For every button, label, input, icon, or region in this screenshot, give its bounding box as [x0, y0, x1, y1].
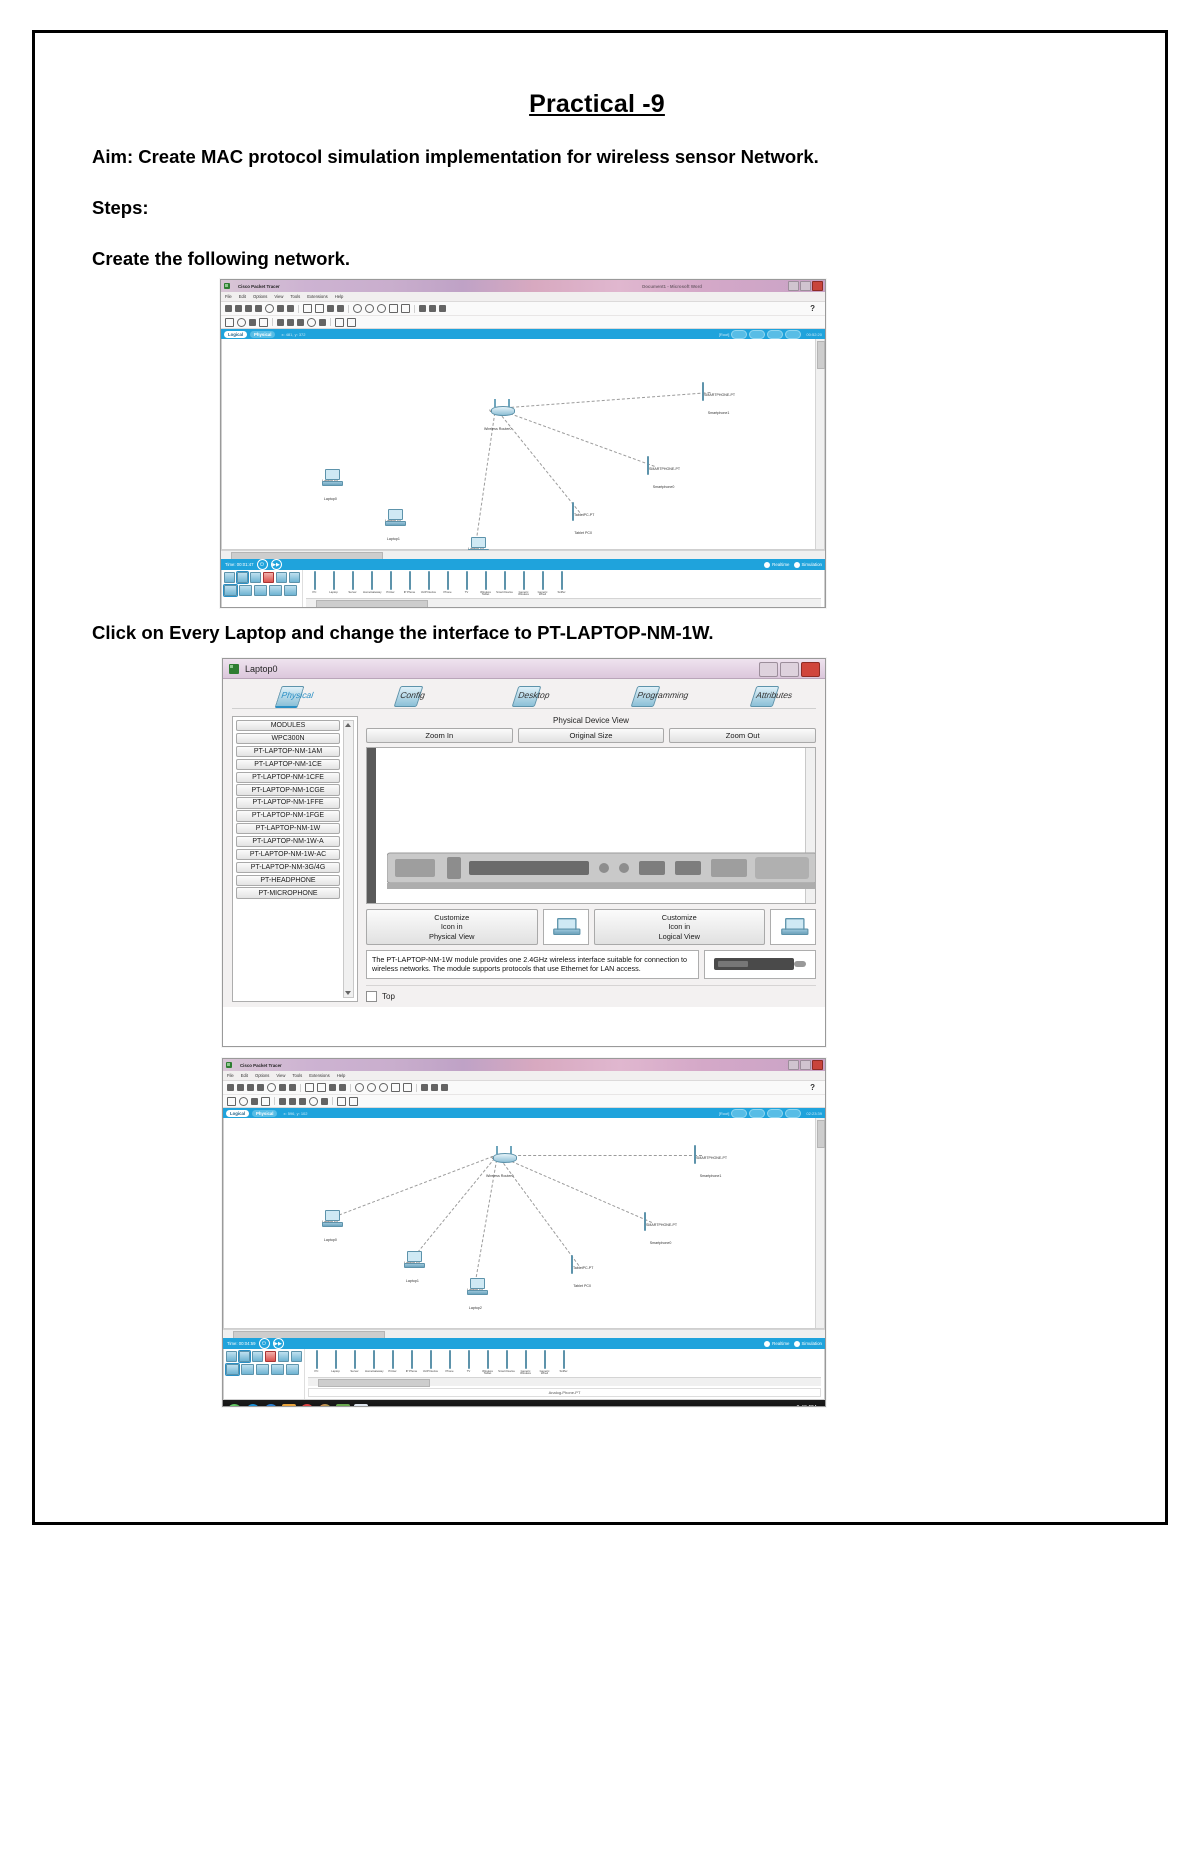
pt2-workspace[interactable]: WRT300NWireless Router0SMARTPHONE-PTSmar… — [223, 1118, 825, 1329]
zoom-out-button[interactable]: Zoom Out — [669, 728, 816, 743]
device-phone[interactable]: Phone — [441, 1351, 458, 1375]
toolbar-separator — [272, 318, 273, 326]
device-printer[interactable]: Printer — [382, 572, 399, 596]
device-label: VoIP Device — [420, 591, 437, 594]
zoom-out-icon[interactable] — [379, 1083, 388, 1092]
pt2-window-title: Cisco Packet Tracer — [240, 1063, 282, 1068]
original-size-button[interactable]: Original Size — [518, 728, 665, 743]
end-devices-sub-icon[interactable] — [226, 1364, 239, 1375]
home-icon[interactable] — [239, 585, 252, 596]
pt1-window-controls[interactable] — [788, 281, 823, 291]
draw-line-icon[interactable] — [287, 319, 294, 326]
tab-desktop[interactable]: Desktop — [512, 686, 542, 707]
industrial-icon[interactable] — [269, 585, 282, 596]
start-button-icon[interactable] — [227, 1404, 242, 1407]
close-icon[interactable] — [812, 281, 823, 291]
scroll-thumb[interactable] — [817, 1120, 825, 1148]
smart-city-icon[interactable] — [254, 585, 267, 596]
pt1-menubar[interactable]: File Edit Options View Tools Extensions … — [221, 292, 825, 302]
palette-icon[interactable] — [287, 305, 294, 312]
open-file-icon[interactable] — [235, 305, 242, 312]
print-icon[interactable] — [255, 305, 262, 312]
multiuser-connection-icon[interactable] — [289, 572, 300, 583]
device-label: PC — [308, 1370, 325, 1373]
power-grid-icon[interactable] — [284, 585, 297, 596]
link-router0-laptop0 — [330, 1154, 498, 1219]
pt1-view-bar[interactable]: Logical Physical x: 481, y: 372 [Root] 0… — [221, 329, 825, 339]
network-info-icon[interactable] — [279, 1084, 286, 1091]
node-tabletpc0[interactable]: TabletPC-PTTablet PC0 — [572, 503, 594, 539]
pt2-clock: 02:23:39 — [806, 1111, 822, 1116]
windows-taskbar[interactable]: 2:49 PM 2/3/2021 — [223, 1400, 825, 1407]
viewport-icon[interactable] — [431, 1084, 438, 1091]
menu-help[interactable]: Help — [337, 1073, 346, 1078]
physical-view-tab[interactable]: Physical — [252, 1110, 277, 1117]
custom-devices-icon[interactable] — [403, 1083, 412, 1092]
place-note-icon[interactable] — [277, 319, 284, 326]
viewport-button[interactable] — [785, 1109, 801, 1118]
menu-edit[interactable]: Edit — [239, 294, 246, 299]
device-label: Wireless Tablet — [477, 591, 494, 597]
pt2-statusbar: Time: 00:04:59 ⏻ ▶▶ Realtime Simulation — [223, 1338, 825, 1349]
device-pc[interactable]: PC — [306, 572, 323, 596]
device-label: VoIP Device — [422, 1370, 439, 1373]
tab-physical[interactable]: Physical — [274, 686, 304, 708]
select-tool-icon[interactable] — [225, 318, 234, 327]
zoom-in-button[interactable]: Zoom In — [366, 728, 513, 743]
realtime-mode-button[interactable]: Realtime — [764, 1341, 789, 1347]
device-ip-phone[interactable]: IP Phone — [401, 572, 418, 596]
module-pt-laptop-nm-1w-a[interactable]: PT-LAPTOP-NM-1W-A — [236, 836, 340, 847]
device-type-selection[interactable] — [224, 1349, 305, 1399]
physical-view-thumbnail — [543, 909, 589, 945]
media-player-icon[interactable] — [300, 1404, 314, 1407]
device-ip-phone[interactable]: IP Phone — [403, 1351, 420, 1375]
modules-scrollbar[interactable] — [343, 720, 354, 998]
menu-options[interactable]: Options — [255, 1073, 269, 1078]
draw-freeform-icon[interactable] — [321, 1098, 328, 1105]
device-tv[interactable]: TV — [458, 572, 475, 596]
menu-view[interactable]: View — [276, 1073, 285, 1078]
paste-icon[interactable] — [315, 304, 324, 313]
node-laptop0[interactable]: Laptop-PTLaptop0 — [322, 1210, 339, 1246]
pt1-secondary-toolbar[interactable] — [221, 316, 825, 329]
pt1-view-bar-right[interactable]: [Root] 00:52:20 — [716, 330, 822, 339]
redo-icon[interactable] — [337, 305, 344, 312]
components-icon[interactable] — [252, 1351, 263, 1362]
pt2-device-tray[interactable]: PCLaptopServerHomeGatewayPrinterIP Phone… — [223, 1349, 825, 1400]
delete-tool-icon[interactable] — [249, 319, 256, 326]
delete-tool-icon[interactable] — [251, 1098, 258, 1105]
pt1-horizontal-scrollbar[interactable] — [221, 550, 825, 559]
scroll-thumb[interactable] — [316, 600, 428, 608]
inspect-tool-icon[interactable] — [237, 318, 246, 327]
simulation-mode-button[interactable]: Simulation — [794, 562, 823, 568]
end-devices-icon[interactable] — [237, 572, 248, 583]
dialog-window-controls[interactable] — [759, 662, 820, 677]
device-list[interactable]: PCLaptopServerHomeGatewayPrinterIP Phone… — [305, 1349, 824, 1399]
draw-ellipse-icon[interactable] — [309, 1097, 318, 1106]
draw-freeform-icon[interactable] — [319, 319, 326, 326]
device-generic-wired[interactable]: Generic Wired — [536, 1351, 553, 1375]
menu-tools[interactable]: Tools — [290, 294, 300, 299]
zoom-in-icon[interactable] — [355, 1083, 364, 1092]
industrial-icon[interactable] — [271, 1364, 284, 1375]
step-2-text: Click on Every Laptop and change the int… — [92, 621, 1102, 646]
pt1-workspace[interactable]: WRT300NWireless Router0SMARTPHONE-PTSmar… — [221, 339, 825, 550]
scroll-thumb[interactable] — [817, 341, 825, 369]
node-smartphone0[interactable]: SMARTPHONE-PTSmartphone0 — [644, 1213, 677, 1249]
pt1-main-toolbar[interactable]: ? — [221, 302, 825, 316]
zoom-reset-icon[interactable] — [365, 304, 374, 313]
device-category-row-2[interactable] — [226, 1364, 302, 1375]
pt2-window-controls[interactable] — [788, 1060, 823, 1070]
module-pt-laptop-nm-1w-ac[interactable]: PT-LAPTOP-NM-1W-AC — [236, 849, 340, 860]
power-cycle-devices-icon[interactable]: ⏻ — [257, 559, 268, 570]
device-icon — [354, 1350, 356, 1369]
end-devices-icon[interactable] — [239, 1351, 250, 1362]
pt2-menubar[interactable]: File Edit Options View Tools Extensions … — [223, 1071, 825, 1081]
device-type-selection[interactable] — [222, 570, 303, 608]
device-list-scrollbar[interactable] — [308, 1377, 821, 1386]
draw-rectangle-icon[interactable] — [389, 304, 398, 313]
device-label: Generic Wired — [534, 591, 551, 597]
components-icon[interactable] — [250, 572, 261, 583]
device-wireless-tablet[interactable]: Wireless Tablet — [479, 1351, 496, 1375]
maximize-icon[interactable] — [780, 662, 799, 677]
pt1-vertical-scrollbar[interactable] — [815, 339, 824, 549]
device-icon — [449, 1350, 451, 1369]
module-wpc300n[interactable]: WPC300N — [236, 733, 340, 744]
device-category-row-2[interactable] — [224, 585, 300, 596]
pt2-view-bar-right[interactable]: [Root] 02:23:39 — [716, 1109, 822, 1118]
customize-line-1: Customize — [662, 913, 697, 922]
new-file-icon[interactable] — [225, 305, 232, 312]
pt2-main-toolbar[interactable]: ? — [223, 1081, 825, 1095]
taskbar-clock[interactable]: 2:49 PM 2/3/2021 — [796, 1405, 821, 1407]
device-viewport[interactable] — [366, 747, 816, 904]
complex-pdu-icon[interactable] — [349, 1097, 358, 1106]
menu-tools[interactable]: Tools — [292, 1073, 302, 1078]
device-icon — [487, 1350, 489, 1369]
dialog-tabs[interactable]: PhysicalConfigDesktopProgrammingAttribut… — [232, 686, 816, 709]
device-server[interactable]: Server — [344, 572, 361, 596]
top-checkbox[interactable] — [366, 991, 377, 1002]
device-phone[interactable]: Phone — [439, 572, 456, 596]
move-object-button[interactable] — [749, 330, 765, 339]
node-laptop1[interactable]: Laptop-PTLaptop1 — [385, 509, 402, 545]
module-pt-laptop-nm-1w[interactable]: PT-LAPTOP-NM-1W — [236, 823, 340, 834]
node-router0[interactable]: WRT300NWireless Router0 — [484, 399, 512, 435]
minimize-icon[interactable] — [788, 1060, 799, 1070]
module-pt-laptop-nm-1fge[interactable]: PT-LAPTOP-NM-1FGE — [236, 810, 340, 821]
smart-city-icon[interactable] — [256, 1364, 269, 1375]
scroll-down-arrow-icon[interactable] — [345, 991, 351, 995]
tab-attributes[interactable]: Attributes — [750, 686, 780, 707]
menu-extensions[interactable]: Extensions — [307, 294, 327, 299]
device-icon — [504, 571, 506, 590]
link-router0-smartphone1 — [498, 1155, 702, 1156]
draw-rectangle-icon[interactable] — [391, 1083, 400, 1092]
internet-explorer-icon[interactable] — [246, 1404, 260, 1407]
modules-header[interactable]: MODULES — [236, 720, 340, 731]
node-label: SMARTPHONE-PTSmartphone1 — [696, 1156, 727, 1178]
save-icon[interactable] — [247, 1084, 254, 1091]
pt2-horizontal-scrollbar[interactable] — [223, 1329, 825, 1338]
pt1-device-tray[interactable]: PCLaptopServerHomeGatewayPrinterIP Phone… — [221, 570, 825, 608]
pt2-view-bar[interactable]: Logical Physical x: 596, y: 102 [Root] 0… — [223, 1108, 825, 1118]
customize-line-2: Icon in — [668, 922, 690, 931]
menu-extensions[interactable]: Extensions — [309, 1073, 329, 1078]
pt2-vertical-scrollbar[interactable] — [815, 1118, 824, 1328]
device-label: Generic Wireless — [517, 1370, 534, 1376]
viewport-icon[interactable] — [429, 305, 436, 312]
device-icon — [523, 571, 525, 590]
device-list[interactable]: PCLaptopServerHomeGatewayPrinterIP Phone… — [303, 570, 824, 608]
device-label: Generic Wireless — [515, 591, 532, 597]
simulation-mode-button[interactable]: Simulation — [794, 1341, 823, 1347]
module-pt-microphone[interactable]: PT-MICROPHONE — [236, 887, 340, 898]
pt1-mode-toggle[interactable]: Realtime Simulation — [764, 562, 822, 568]
customize-icon-logical-view-button[interactable]: Customize Icon in Logical View — [594, 909, 766, 945]
device-voip-device[interactable]: VoIP Device — [420, 572, 437, 596]
module-pt-laptop-nm-3g-4g[interactable]: PT-LAPTOP-NM-3G/4G — [236, 862, 340, 873]
zoom-in-icon[interactable] — [353, 304, 362, 313]
customize-icon-physical-view-button[interactable]: Customize Icon in Physical View — [366, 909, 538, 945]
menu-options[interactable]: Options — [253, 294, 267, 299]
device-icon — [430, 1350, 432, 1369]
device-label: Smart Device — [498, 1370, 515, 1373]
connections-icon[interactable] — [265, 1351, 276, 1362]
device-voip-device[interactable]: VoIP Device — [422, 1351, 439, 1375]
realtime-mode-button[interactable]: Realtime — [764, 562, 789, 568]
realtime-icon — [764, 1341, 770, 1347]
device-sniffer[interactable]: Sniffer — [555, 1351, 572, 1375]
open-file-icon[interactable] — [237, 1084, 244, 1091]
device-icon — [335, 1350, 337, 1369]
pt2-mode-toggle[interactable]: Realtime Simulation — [764, 1341, 822, 1347]
fast-forward-icon[interactable]: ▶▶ — [271, 559, 282, 570]
inspect-tool-icon[interactable] — [239, 1097, 248, 1106]
minimize-icon[interactable] — [759, 662, 778, 677]
module-pt-laptop-nm-1cge[interactable]: PT-LAPTOP-NM-1CGE — [236, 784, 340, 795]
modules-panel[interactable]: MODULESWPC300NPT-LAPTOP-NM-1AMPT-LAPTOP-… — [232, 716, 358, 1002]
minimize-icon[interactable] — [788, 281, 799, 291]
menu-edit[interactable]: Edit — [241, 1073, 248, 1078]
customize-line-1: Customize — [434, 913, 469, 922]
logical-view-tab[interactable]: Logical — [226, 1110, 249, 1117]
maximize-icon[interactable] — [800, 1060, 811, 1070]
device-icon — [352, 571, 354, 590]
chrome-icon[interactable] — [318, 1404, 332, 1407]
module-pt-laptop-nm-1ffe[interactable]: PT-LAPTOP-NM-1FFE — [236, 797, 340, 808]
complex-pdu-icon[interactable] — [347, 318, 356, 327]
word-document-icon[interactable] — [354, 1404, 368, 1407]
description-row: The PT-LAPTOP-NM-1W module provides one … — [366, 950, 816, 979]
draw-ellipse-icon[interactable] — [307, 318, 316, 327]
device-laptop[interactable]: Laptop — [325, 572, 342, 596]
device-printer[interactable]: Printer — [384, 1351, 401, 1375]
draw-line-icon[interactable] — [289, 1098, 296, 1105]
node-laptop2[interactable]: Laptop-PTLaptop2 — [467, 1278, 484, 1314]
end-devices-sub-icon[interactable] — [224, 585, 237, 596]
device-homegateway[interactable]: HomeGateway — [363, 572, 380, 596]
fast-forward-icon[interactable]: ▶▶ — [273, 1338, 284, 1349]
menu-file[interactable]: File — [227, 1073, 234, 1078]
set-tiled-background-button[interactable] — [767, 1109, 783, 1118]
home-icon[interactable] — [241, 1364, 254, 1375]
new-cluster-button[interactable] — [731, 330, 747, 339]
resize-shape-icon[interactable] — [259, 318, 268, 327]
pt2-titlebar: Cisco Packet Tracer — [223, 1059, 825, 1071]
folder-icon[interactable] — [282, 1404, 296, 1407]
power-cycle-devices-icon[interactable]: ⏻ — [259, 1338, 270, 1349]
device-category-row-1[interactable] — [226, 1351, 302, 1362]
menu-file[interactable]: File — [225, 294, 232, 299]
device-generic-wireless[interactable]: Generic Wireless — [515, 572, 532, 596]
device-pc[interactable]: PC — [308, 1351, 325, 1375]
logical-view-tab[interactable]: Logical — [224, 331, 247, 338]
network-devices-icon[interactable] — [224, 572, 235, 583]
activity-wizard-icon[interactable] — [267, 1083, 276, 1092]
modules-list[interactable]: MODULESWPC300NPT-LAPTOP-NM-1AMPT-LAPTOP-… — [236, 720, 340, 998]
physical-view-tab[interactable]: Physical — [250, 331, 275, 338]
help-question-icon[interactable]: ? — [810, 304, 821, 313]
select-tool-icon[interactable] — [227, 1097, 236, 1106]
new-file-icon[interactable] — [227, 1084, 234, 1091]
pdu-list-icon[interactable] — [421, 1084, 428, 1091]
resize-shape-icon[interactable] — [261, 1097, 270, 1106]
tab-programming[interactable]: Programming — [631, 686, 661, 707]
custom-devices-icon[interactable] — [401, 304, 410, 313]
node-smartphone1[interactable]: SMARTPHONE-PTSmartphone1 — [694, 1146, 727, 1182]
physical-device-view-label: Physical Device View — [366, 716, 816, 725]
power-grid-icon[interactable] — [286, 1364, 299, 1375]
module-pt-laptop-nm-1ce[interactable]: PT-LAPTOP-NM-1CE — [236, 759, 340, 770]
copy-icon[interactable] — [303, 304, 312, 313]
device-label: Printer — [382, 591, 399, 594]
simulation-time: Time: 00:04:59 — [227, 1341, 256, 1346]
laptop-thumbnail-icon — [553, 918, 578, 935]
zoom-button-row[interactable]: Zoom In Original Size Zoom Out — [366, 728, 816, 743]
device-tv[interactable]: TV — [460, 1351, 477, 1375]
network-info-icon[interactable] — [277, 305, 284, 312]
top-checkbox-row[interactable]: Top — [366, 985, 816, 1002]
miscellaneous-icon[interactable] — [278, 1351, 289, 1362]
device-list-scrollbar[interactable] — [306, 598, 821, 607]
device-row[interactable]: PCLaptopServerHomeGatewayPrinterIP Phone… — [306, 572, 821, 596]
device-sniffer[interactable]: Sniffer — [553, 572, 570, 596]
redo-icon[interactable] — [339, 1084, 346, 1091]
packet-tracer-taskbar-icon[interactable] — [336, 1404, 350, 1407]
device-homegateway[interactable]: HomeGateway — [365, 1351, 382, 1375]
pt2-secondary-toolbar[interactable] — [223, 1095, 825, 1108]
draw-square-icon[interactable] — [299, 1098, 306, 1105]
simple-pdu-icon[interactable] — [337, 1097, 346, 1106]
undo-icon[interactable] — [327, 305, 334, 312]
node-router0[interactable]: WRT300NWireless Router0 — [486, 1146, 514, 1182]
device-icon — [390, 571, 392, 590]
scroll-thumb[interactable] — [318, 1379, 430, 1387]
paste-icon[interactable] — [317, 1083, 326, 1092]
tab-config[interactable]: Config — [393, 686, 423, 707]
scroll-up-arrow-icon[interactable] — [345, 723, 351, 727]
device-server[interactable]: Server — [346, 1351, 363, 1375]
set-tiled-background-button[interactable] — [767, 330, 783, 339]
laptop-thumbnail-icon — [781, 918, 806, 935]
menu-view[interactable]: View — [274, 294, 283, 299]
zoom-out-icon[interactable] — [377, 304, 386, 313]
pdu-list-icon[interactable] — [419, 305, 426, 312]
viewport-button[interactable] — [785, 330, 801, 339]
maximize-icon[interactable] — [800, 281, 811, 291]
device-generic-wireless[interactable]: Generic Wireless — [517, 1351, 534, 1375]
node-laptop0[interactable]: Laptop-PTLaptop0 — [322, 469, 339, 505]
close-icon[interactable] — [812, 1060, 823, 1070]
undo-icon[interactable] — [329, 1084, 336, 1091]
device-icon — [428, 571, 430, 590]
device-generic-wired[interactable]: Generic Wired — [534, 572, 551, 596]
module-pt-laptop-nm-1am[interactable]: PT-LAPTOP-NM-1AM — [236, 746, 340, 757]
dialog-inner: MODULESWPC300NPT-LAPTOP-NM-1AMPT-LAPTOP-… — [232, 716, 816, 1002]
module-description: The PT-LAPTOP-NM-1W module provides one … — [366, 950, 699, 979]
customize-row[interactable]: Customize Icon in Physical View Customiz… — [366, 909, 816, 945]
toolbar-separator — [298, 305, 299, 313]
move-object-button[interactable] — [749, 1109, 765, 1118]
save-icon[interactable] — [245, 305, 252, 312]
activity-wizard-icon[interactable] — [265, 304, 274, 313]
palette-icon[interactable] — [289, 1084, 296, 1091]
device-category-row-1[interactable] — [224, 572, 300, 583]
background-image-icon[interactable] — [441, 1084, 448, 1091]
steps-label: Steps: — [92, 196, 1102, 221]
connections-icon[interactable] — [263, 572, 274, 583]
module-pt-laptop-nm-1cfe[interactable]: PT-LAPTOP-NM-1CFE — [236, 772, 340, 783]
device-smart-device[interactable]: Smart Device — [498, 1351, 515, 1375]
help-question-icon[interactable]: ? — [810, 1083, 821, 1092]
module-pt-headphone[interactable]: PT-HEADPHONE — [236, 875, 340, 886]
node-laptop1[interactable]: Laptop-PTLaptop1 — [404, 1251, 421, 1287]
device-icon — [392, 1350, 394, 1369]
node-tabletpc0[interactable]: TabletPC-PTTablet PC0 — [571, 1256, 593, 1292]
node-smartphone1[interactable]: SMARTPHONE-PTSmartphone1 — [702, 383, 735, 419]
zoom-reset-icon[interactable] — [367, 1083, 376, 1092]
miscellaneous-icon[interactable] — [276, 572, 287, 583]
device-label: Wireless Tablet — [479, 1370, 496, 1376]
background-image-icon[interactable] — [439, 305, 446, 312]
network-devices-icon[interactable] — [226, 1351, 237, 1362]
place-note-icon[interactable] — [279, 1098, 286, 1105]
simple-pdu-icon[interactable] — [335, 318, 344, 327]
browser-icon[interactable] — [264, 1404, 278, 1407]
print-icon[interactable] — [257, 1084, 264, 1091]
copy-icon[interactable] — [305, 1083, 314, 1092]
document-page: Practical -9 Aim: Create MAC protocol si… — [0, 0, 1200, 1855]
smartphone-icon — [694, 1145, 696, 1164]
menu-help[interactable]: Help — [335, 294, 344, 299]
packet-tracer-logo-icon — [229, 664, 239, 674]
close-icon[interactable] — [801, 662, 820, 677]
device-smart-device[interactable]: Smart Device — [496, 572, 513, 596]
device-laptop[interactable]: Laptop — [327, 1351, 344, 1375]
device-row[interactable]: PCLaptopServerHomeGatewayPrinterIP Phone… — [308, 1351, 821, 1375]
draw-square-icon[interactable] — [297, 319, 304, 326]
new-cluster-button[interactable] — [731, 1109, 747, 1118]
smartphone-icon — [702, 382, 704, 401]
node-smartphone0[interactable]: SMARTPHONE-PTSmartphone0 — [647, 457, 680, 493]
device-wireless-tablet[interactable]: Wireless Tablet — [477, 572, 494, 596]
multiuser-connection-icon[interactable] — [291, 1351, 302, 1362]
